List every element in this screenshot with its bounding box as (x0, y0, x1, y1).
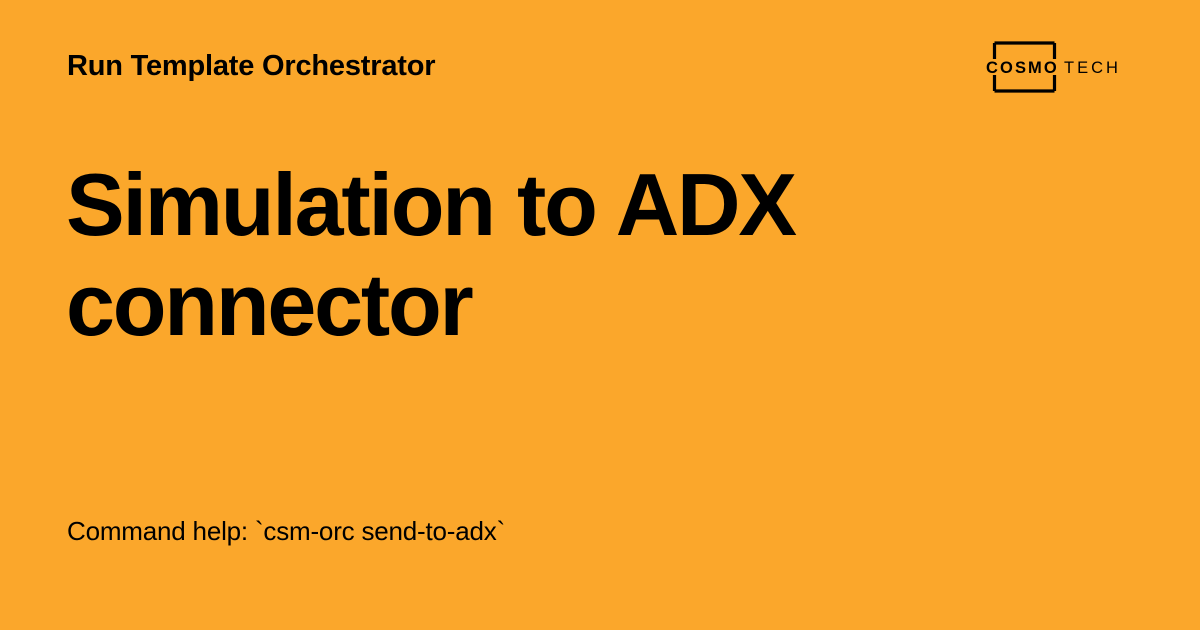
svg-text:TECH: TECH (1064, 59, 1121, 77)
brand-logo: COSMO TECH (986, 39, 1134, 95)
svg-text:COSMO: COSMO (986, 59, 1059, 77)
social-card: Run Template Orchestrator (0, 0, 1200, 630)
eyebrow-label: Run Template Orchestrator (67, 51, 435, 83)
page-title: Simulation to ADX connector (66, 155, 966, 355)
cosmotech-logo-icon: COSMO TECH (986, 39, 1134, 95)
header: Run Template Orchestrator (0, 0, 1200, 160)
command-help-text: Command help: `csm-orc send-to-adx` (67, 514, 505, 548)
